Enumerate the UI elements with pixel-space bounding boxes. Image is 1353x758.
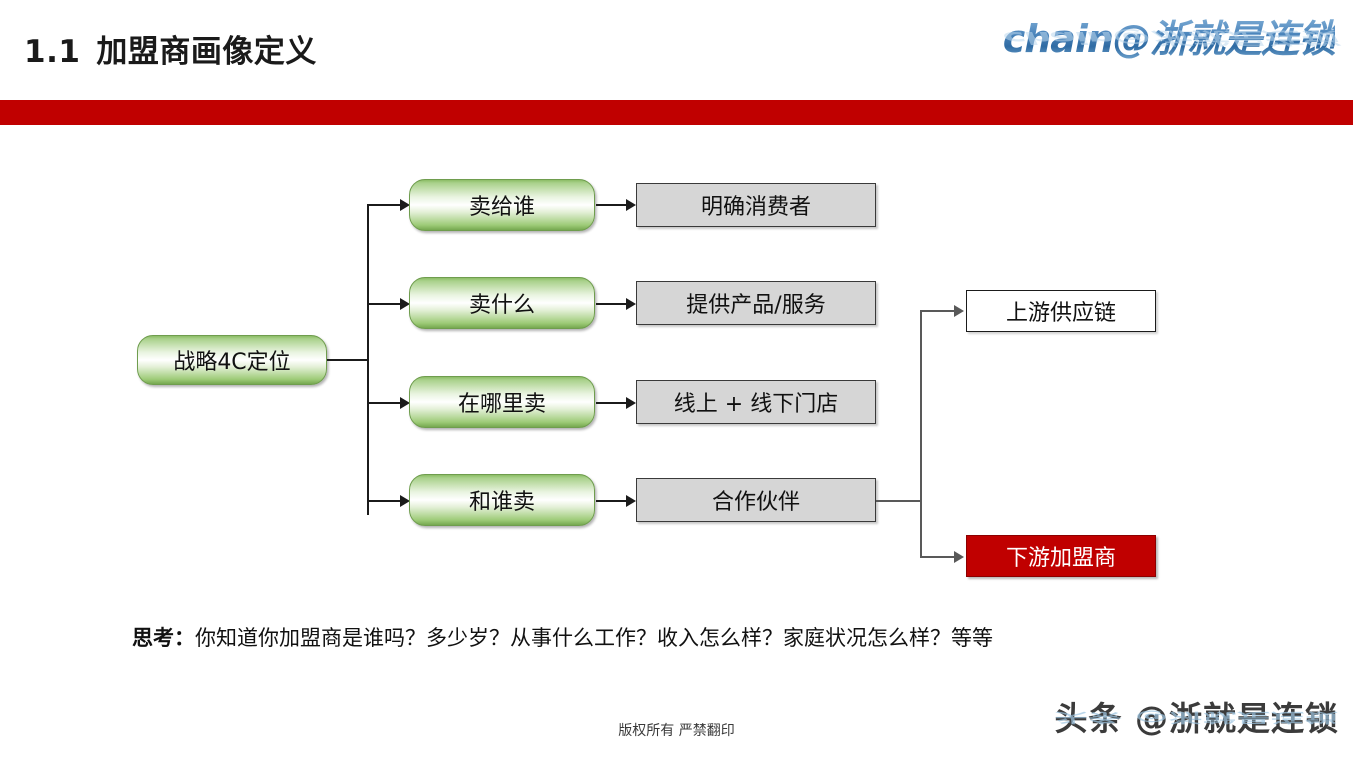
node-question-4[interactable]: 和谁卖 (409, 474, 595, 526)
node-downstream-franchisee-label: 下游加盟商 (1006, 540, 1116, 572)
connector-branch-3 (367, 402, 402, 404)
reflection-label: 思考： (132, 626, 195, 650)
node-upstream-supply-chain-label: 上游供应链 (1006, 295, 1116, 327)
page-title: 1.1加盟商画像定义 (24, 26, 317, 71)
node-question-1[interactable]: 卖给谁 (409, 179, 595, 231)
connector-upstream (920, 310, 956, 312)
node-answer-3[interactable]: 线上 + 线下门店 (636, 380, 876, 424)
connector-root-stem (327, 359, 369, 361)
node-answer-4-label: 合作伙伴 (712, 484, 800, 516)
connector-answer-2 (596, 303, 628, 305)
connector-branch-1 (367, 204, 402, 206)
node-question-3-label: 在哪里卖 (458, 386, 546, 418)
brand-logo: chain@浙就是连锁 chain@浙就是连锁 (955, 8, 1335, 86)
watermark-text: 头条 @浙就是连锁 (1055, 692, 1340, 740)
node-answer-1-label: 明确消费者 (701, 189, 811, 221)
node-answer-2-label: 提供产品/服务 (686, 287, 825, 319)
connector-answer-1 (596, 204, 628, 206)
connector-branch-4 (367, 500, 402, 502)
node-answer-4[interactable]: 合作伙伴 (636, 478, 876, 522)
node-question-4-label: 和谁卖 (469, 484, 535, 516)
arrow-answer-4 (626, 495, 636, 507)
connector-partner-stem (876, 500, 922, 502)
node-root-strategy-label: 战略4C定位 (173, 344, 290, 376)
node-answer-1[interactable]: 明确消费者 (636, 183, 876, 227)
reflection-question-line: 思考：你知道你加盟商是谁吗？多少岁？从事什么工作？收入怎么样？家庭状况怎么样？等… (132, 622, 993, 652)
connector-partner-spine-up (920, 310, 922, 500)
reflection-text: 你知道你加盟商是谁吗？多少岁？从事什么工作？收入怎么样？家庭状况怎么样？等等 (195, 626, 993, 650)
brand-logo-text: chain@浙就是连锁 (955, 8, 1335, 63)
arrow-upstream (954, 305, 964, 317)
connector-downstream (920, 556, 956, 558)
node-upstream-supply-chain[interactable]: 上游供应链 (966, 290, 1156, 332)
node-question-3[interactable]: 在哪里卖 (409, 376, 595, 428)
arrow-answer-3 (626, 397, 636, 409)
arrow-downstream (954, 551, 964, 563)
node-question-1-label: 卖给谁 (469, 189, 535, 221)
node-question-2-label: 卖什么 (469, 287, 535, 319)
connector-answer-4 (596, 500, 628, 502)
node-downstream-franchisee[interactable]: 下游加盟商 (966, 535, 1156, 577)
arrow-answer-2 (626, 298, 636, 310)
node-root-strategy[interactable]: 战略4C定位 (137, 335, 327, 385)
page-title-text: 加盟商画像定义 (96, 34, 317, 70)
connector-branch-2 (367, 303, 402, 305)
slide-canvas: 1.1加盟商画像定义 chain@浙就是连锁 chain@浙就是连锁 战略4C定… (0, 0, 1353, 758)
watermark: 头条 @浙就是连锁 头条 @浙就是连锁 (999, 692, 1339, 752)
connector-root-spine (367, 204, 369, 515)
header-accent-bar (0, 100, 1353, 125)
node-question-2[interactable]: 卖什么 (409, 277, 595, 329)
strategy-4c-diagram: 战略4C定位 卖给谁 明确消费者 卖什么 提供产品/服务 在哪里卖 (0, 125, 1353, 605)
node-answer-3-label: 线上 + 线下门店 (674, 386, 838, 418)
node-answer-2[interactable]: 提供产品/服务 (636, 281, 876, 325)
connector-partner-spine-down (920, 500, 922, 556)
page-title-number: 1.1 (24, 34, 80, 70)
connector-answer-3 (596, 402, 628, 404)
arrow-answer-1 (626, 199, 636, 211)
